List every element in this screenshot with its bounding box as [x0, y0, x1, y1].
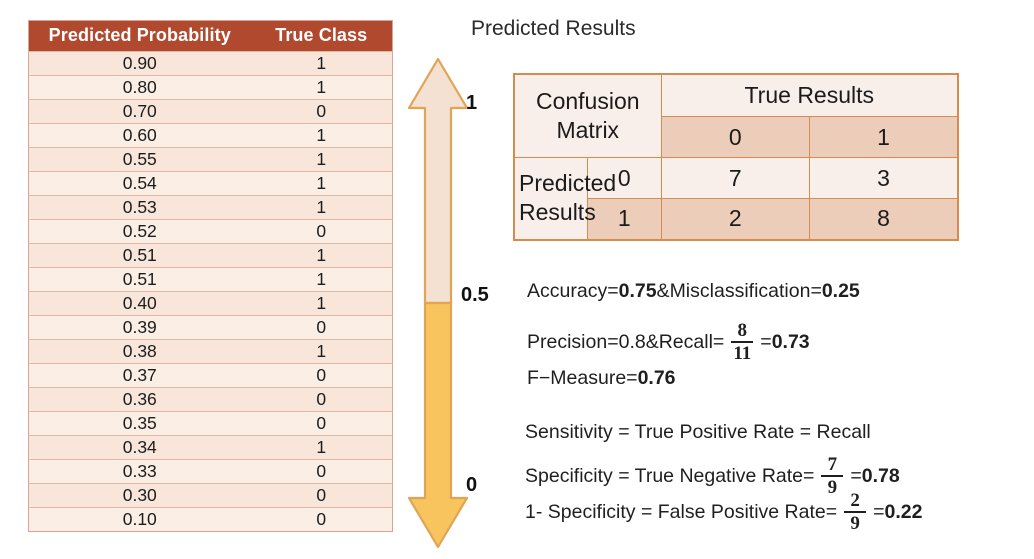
panel-title: Predicted Results	[471, 17, 636, 41]
cell-predicted-probability: 0.34	[29, 436, 251, 460]
cell-predicted-probability: 0.36	[29, 388, 251, 412]
table-row: 0.341	[29, 436, 393, 460]
specificity-value: 0.78	[862, 465, 900, 488]
axis-label-bottom: 0	[466, 474, 477, 497]
cell-predicted-probability: 0.80	[29, 76, 251, 100]
cell-true-class: 0	[251, 316, 393, 340]
recall-label: Recall	[659, 331, 713, 354]
one-minus-specificity-value: 0.22	[885, 501, 923, 524]
table-row: 0.700	[29, 100, 393, 124]
cell-predicted-probability: 0.53	[29, 196, 251, 220]
precision-amp: &	[646, 331, 659, 354]
table-row: 0.401	[29, 292, 393, 316]
cell-true-class: 0	[251, 460, 393, 484]
table-row: 0.801	[29, 76, 393, 100]
cell-predicted-probability: 0.52	[29, 220, 251, 244]
table-row: 0.601	[29, 124, 393, 148]
cell-true-class: 1	[251, 340, 393, 364]
confusion-matrix-corner-label: Confusion Matrix	[514, 74, 661, 158]
table-header-row: Predicted Probability True Class	[29, 21, 393, 52]
recall-value: 0.73	[772, 331, 810, 354]
cell-true-class: 1	[251, 436, 393, 460]
cell-true-class: 1	[251, 52, 393, 76]
confusion-matrix-cell-0-1: 3	[810, 158, 959, 199]
table-row: 0.531	[29, 196, 393, 220]
cell-predicted-probability: 0.38	[29, 340, 251, 364]
recall-equals: =	[713, 331, 724, 354]
one-minus-specificity-fraction: 2 9	[844, 492, 866, 533]
column-header-true-class: True Class	[251, 21, 393, 52]
cell-true-class: 1	[251, 172, 393, 196]
table-row: 0.350	[29, 412, 393, 436]
formula-precision-recall: Precision = 0.8 & Recall = 8 11 = 0.73	[527, 322, 810, 363]
specificity-numerator: 7	[828, 456, 838, 473]
table-row: 0.370	[29, 364, 393, 388]
precision-value: 0.8	[619, 331, 646, 354]
table-header: Predicted Probability True Class	[29, 21, 393, 52]
cell-true-class: 1	[251, 244, 393, 268]
formula-specificity: Specificity = True Negative Rate = 7 9 =…	[525, 456, 900, 497]
formula-sensitivity: Sensitivity = True Positive Rate = Recal…	[525, 421, 871, 444]
confusion-matrix-data-row-0: Predicted Results 0 7 3	[514, 158, 958, 199]
recall-equals-2: =	[760, 331, 771, 354]
cell-predicted-probability: 0.30	[29, 484, 251, 508]
misclassification-value: 0.25	[822, 280, 860, 303]
cell-true-class: 1	[251, 124, 393, 148]
table-row: 0.390	[29, 316, 393, 340]
table-row: 0.520	[29, 220, 393, 244]
specificity-equals: =	[803, 465, 814, 488]
specificity-fraction: 7 9	[821, 456, 843, 497]
cell-predicted-probability: 0.70	[29, 100, 251, 124]
accuracy-label: Accuracy	[527, 280, 607, 303]
confusion-matrix-row-header-1: 1	[588, 199, 662, 240]
one-minus-specificity-label: 1- Specificity = False Positive Rate	[525, 501, 826, 524]
precision-equals: =	[607, 331, 618, 354]
confusion-matrix-cell-1-1: 8	[810, 199, 959, 240]
cell-predicted-probability: 0.33	[29, 460, 251, 484]
cell-predicted-probability: 0.10	[29, 508, 251, 532]
cell-predicted-probability: 0.37	[29, 364, 251, 388]
cell-true-class: 1	[251, 292, 393, 316]
table-row: 0.381	[29, 340, 393, 364]
column-header-predicted-probability: Predicted Probability	[29, 21, 251, 52]
confusion-matrix-true-results-label: True Results	[661, 74, 958, 117]
cell-true-class: 0	[251, 412, 393, 436]
axis-label-top: 1	[466, 92, 477, 115]
misclassification-label: Misclassification	[670, 280, 811, 303]
cell-predicted-probability: 0.51	[29, 244, 251, 268]
cell-predicted-probability: 0.39	[29, 316, 251, 340]
table-row: 0.511	[29, 244, 393, 268]
slide-root: Predicted Probability True Class 0.9010.…	[0, 0, 1034, 559]
recall-denominator: 11	[733, 345, 751, 363]
confusion-matrix-cell-0-0: 7	[661, 158, 810, 199]
one-minus-specificity-equals-2: =	[873, 501, 884, 524]
cell-predicted-probability: 0.90	[29, 52, 251, 76]
predicted-probability-table: Predicted Probability True Class 0.9010.…	[28, 20, 393, 532]
cell-true-class: 0	[251, 388, 393, 412]
table-row: 0.360	[29, 388, 393, 412]
table-row: 0.100	[29, 508, 393, 532]
confusion-matrix-table: Confusion Matrix True Results 0 1 Predic…	[513, 73, 959, 241]
cell-true-class: 0	[251, 100, 393, 124]
cell-predicted-probability: 0.35	[29, 412, 251, 436]
cell-true-class: 1	[251, 268, 393, 292]
cell-true-class: 1	[251, 76, 393, 100]
confusion-matrix-cell-1-0: 2	[661, 199, 810, 240]
table-row: 0.300	[29, 484, 393, 508]
cell-true-class: 1	[251, 148, 393, 172]
cell-predicted-probability: 0.60	[29, 124, 251, 148]
precision-label: Precision	[527, 331, 607, 354]
table-row: 0.901	[29, 52, 393, 76]
f-measure-value: 0.76	[638, 367, 676, 390]
table-row: 0.551	[29, 148, 393, 172]
misclassification-equals: =	[810, 280, 821, 303]
arrow-lower-half	[409, 303, 467, 547]
one-minus-specificity-numerator: 2	[850, 492, 860, 509]
formula-f-measure: F−Measure = 0.76	[527, 367, 676, 390]
cell-predicted-probability: 0.40	[29, 292, 251, 316]
arrow-upper-half	[409, 59, 467, 303]
confusion-matrix-predicted-results-label: Predicted Results	[514, 158, 588, 240]
confusion-matrix-row-group-header: Confusion Matrix True Results	[514, 74, 958, 117]
one-minus-specificity-equals: =	[826, 501, 837, 524]
cell-true-class: 1	[251, 196, 393, 220]
recall-fraction: 8 11	[731, 322, 753, 363]
f-measure-equals: =	[626, 367, 637, 390]
table-row: 0.330	[29, 460, 393, 484]
table-body: 0.9010.8010.7000.6010.5510.5410.5310.520…	[29, 52, 393, 532]
f-measure-label: F−Measure	[527, 367, 626, 390]
cell-predicted-probability: 0.55	[29, 148, 251, 172]
table-row: 0.541	[29, 172, 393, 196]
table-row: 0.511	[29, 268, 393, 292]
specificity-equals-2: =	[850, 465, 861, 488]
confusion-matrix-col-header-1: 1	[810, 117, 959, 158]
sensitivity-text: Sensitivity = True Positive Rate = Recal…	[525, 421, 871, 444]
formula-one-minus-specificity: 1- Specificity = False Positive Rate = 2…	[525, 492, 922, 533]
accuracy-equals: =	[607, 280, 618, 303]
cell-true-class: 0	[251, 484, 393, 508]
recall-numerator: 8	[738, 322, 748, 339]
specificity-label: Specificity = True Negative Rate	[525, 465, 803, 488]
accuracy-amp: &	[657, 280, 670, 303]
confusion-matrix-col-header-0: 0	[661, 117, 810, 158]
axis-label-middle: 0.5	[461, 284, 489, 307]
cell-predicted-probability: 0.54	[29, 172, 251, 196]
cell-predicted-probability: 0.51	[29, 268, 251, 292]
cell-true-class: 0	[251, 364, 393, 388]
cell-true-class: 0	[251, 220, 393, 244]
formula-accuracy: Accuracy = 0.75 & Misclassification = 0.…	[527, 280, 860, 303]
one-minus-specificity-denominator: 9	[850, 515, 860, 533]
accuracy-value: 0.75	[619, 280, 657, 303]
cell-true-class: 0	[251, 508, 393, 532]
